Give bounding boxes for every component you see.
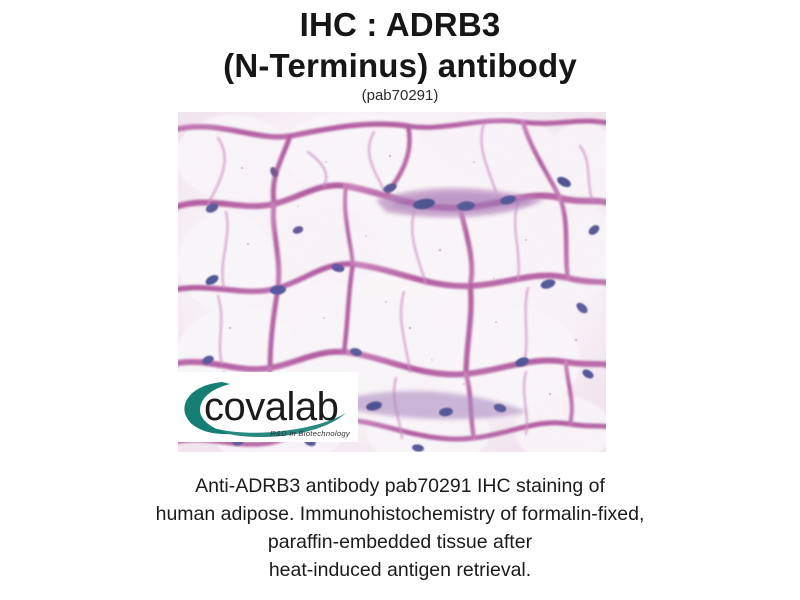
title-line-primary: IHC : ADRB3 <box>0 0 800 45</box>
caption-line: human adipose. Immunohistochemistry of f… <box>100 500 700 528</box>
page-title: IHC : ADRB3 (N-Terminus) antibody (pab70… <box>0 0 800 105</box>
covalab-logo: covalab R&D in Biotechnology <box>178 372 358 442</box>
logo-wordmark: covalab <box>204 385 338 429</box>
caption-line: Anti-ADRB3 antibody pab70291 IHC stainin… <box>100 472 700 500</box>
title-line-secondary: (N-Terminus) antibody <box>0 45 800 86</box>
catalog-number: (pab70291) <box>0 87 800 105</box>
covalab-logo-graphic: covalab R&D in Biotechnology <box>178 372 358 442</box>
caption-line: paraffin-embedded tissue after <box>100 528 700 556</box>
caption-line: heat-induced antigen retrieval. <box>100 556 700 584</box>
figure-caption: Anti-ADRB3 antibody pab70291 IHC stainin… <box>100 472 700 584</box>
logo-tagline: R&D in Biotechnology <box>270 429 351 438</box>
